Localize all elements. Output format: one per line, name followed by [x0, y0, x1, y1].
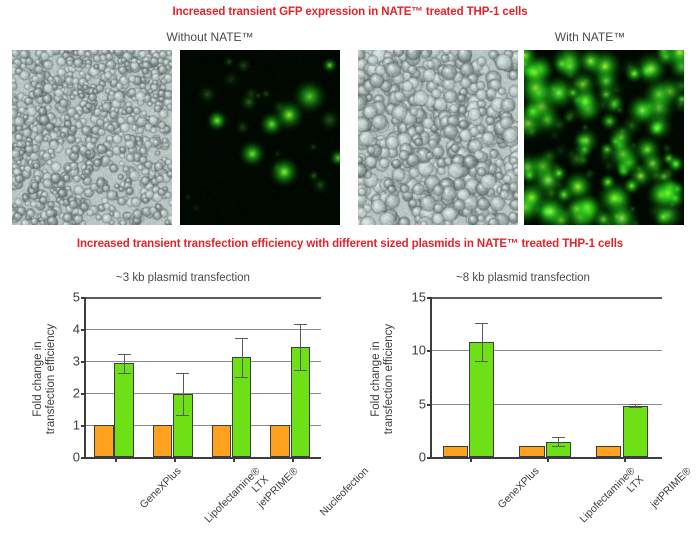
bar-treated [114, 363, 133, 457]
x-axis-label: GeneXPlus [495, 465, 541, 511]
y-tick-label: 0 [419, 450, 426, 465]
y-tick-label: 5 [73, 290, 80, 305]
x-tick-mark [470, 457, 472, 462]
error-bar [183, 373, 184, 414]
x-tick-mark [233, 457, 235, 462]
bar-group: jetPRIME® [585, 297, 662, 457]
error-bar [124, 354, 125, 373]
y-tick-label: 4 [73, 322, 80, 337]
error-bar [482, 323, 483, 361]
y-axis-label-line: Fold change in [370, 294, 383, 464]
y-tick-label: 3 [73, 354, 80, 369]
y-tick-label: 0 [73, 450, 80, 465]
y-tick-mark [427, 457, 432, 459]
error-cap-lower [552, 446, 565, 447]
bar-control [596, 446, 621, 457]
y-tick-label: 15 [412, 290, 426, 305]
y-tick-mark [81, 457, 86, 459]
plot-area: 012345GeneXPlusLipofectamine® LTXjetPRIM… [84, 297, 321, 459]
chart-3kb-plasmid-transfection: ~3 kb plasmid transfection Fold change i… [18, 272, 348, 532]
y-axis-label: Fold change intransfection efficiency [370, 294, 396, 464]
bar-group: GeneXPlus [86, 297, 145, 457]
error-cap-lower [475, 361, 488, 362]
chart-title: ~3 kb plasmid transfection [18, 272, 348, 284]
x-tick-mark [624, 457, 626, 462]
bar-control [443, 446, 468, 457]
error-cap-lower [294, 370, 307, 371]
y-tick-label: 2 [73, 386, 80, 401]
y-tick-label: 5 [419, 396, 426, 411]
error-cap-upper [176, 373, 189, 374]
bar-control [270, 425, 289, 457]
y-axis-label-line: transfection efficiency [383, 294, 396, 464]
error-bar [300, 324, 301, 370]
x-tick-mark [174, 457, 176, 462]
bar-treated [623, 406, 648, 457]
error-cap-upper [118, 354, 131, 355]
x-axis-label: GeneXPlus [138, 465, 184, 511]
error-cap-lower [118, 373, 131, 374]
y-tick-label: 1 [73, 418, 80, 433]
plot-area: 051015GeneXPlusLipofectamine® LTXjetPRIM… [430, 297, 662, 459]
fluorescence-image-without-nate [180, 50, 340, 225]
bar-group: GeneXPlus [432, 297, 509, 457]
error-cap-upper [552, 437, 565, 438]
error-cap-upper [294, 324, 307, 325]
error-cap-lower [176, 415, 189, 416]
x-tick-mark [292, 457, 294, 462]
figure-title-top: Increased transient GFP expression in NA… [0, 6, 700, 18]
error-cap-upper [629, 404, 642, 405]
error-cap-lower [235, 377, 248, 378]
y-axis-label: Fold change intransfection efficiency [32, 294, 58, 464]
y-tick-label: 10 [412, 343, 426, 358]
brightfield-image-with-nate [358, 50, 518, 225]
chart-8kb-plasmid-transfection: ~8 kb plasmid transfection Fold change i… [358, 272, 688, 532]
x-tick-mark [547, 457, 549, 462]
panel-caption-without-nate: Without NATE™ [110, 30, 310, 44]
bar-group: Lipofectamine® LTX [145, 297, 204, 457]
bar-control [153, 425, 172, 457]
bar-control [519, 446, 544, 457]
error-bar [242, 338, 243, 377]
bar-group: jetPRIME® [204, 297, 263, 457]
bar-control [94, 425, 113, 457]
x-axis-label: Lipofectamine® LTX [578, 465, 647, 534]
y-axis-label-line: transfection efficiency [45, 294, 58, 464]
bar-control [212, 425, 231, 457]
error-cap-upper [235, 338, 248, 339]
error-bar [558, 437, 559, 446]
x-tick-mark [115, 457, 117, 462]
figure-title-bottom: Increased transient transfection efficie… [0, 238, 700, 250]
fluorescence-image-with-nate [524, 50, 684, 225]
x-axis-label: jetPRIME® [648, 465, 693, 510]
brightfield-image-without-nate [12, 50, 172, 225]
error-cap-lower [629, 407, 642, 408]
panel-caption-with-nate: With NATE™ [490, 30, 690, 44]
error-cap-upper [475, 323, 488, 324]
y-axis-label-line: Fold change in [32, 294, 45, 464]
bar-group: Nucleofection [262, 297, 321, 457]
chart-title: ~8 kb plasmid transfection [358, 272, 688, 284]
bar-group: Lipofectamine® LTX [509, 297, 586, 457]
